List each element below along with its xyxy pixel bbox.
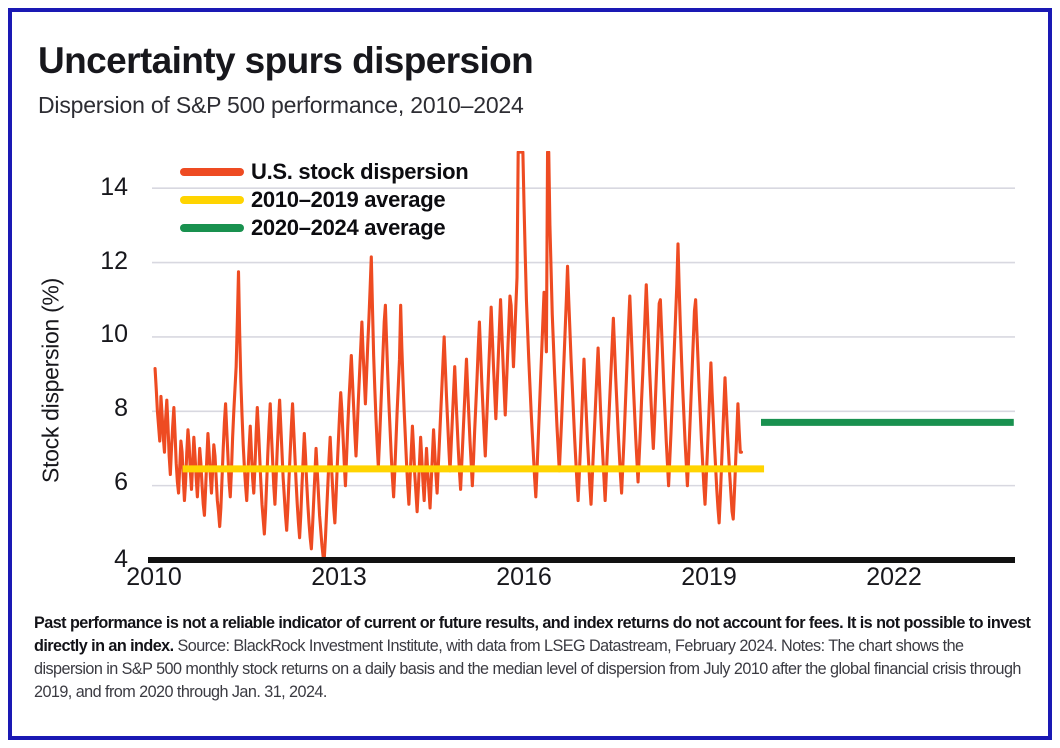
chart-legend: U.S. stock dispersion 2010–2019 average … bbox=[180, 158, 468, 242]
footnote-source: Source: BlackRock Investment Institute, … bbox=[34, 637, 1021, 701]
legend-label-avg-2020-2024: 2020–2024 average bbox=[251, 215, 445, 241]
legend-label-avg-2010-2019: 2010–2019 average bbox=[251, 187, 445, 213]
chart-frame: Uncertainty spurs dispersion Dispersion … bbox=[8, 8, 1052, 740]
legend-item-dispersion: U.S. stock dispersion bbox=[180, 158, 468, 186]
legend-item-avg-2020-2024: 2020–2024 average bbox=[180, 214, 468, 242]
chart-figure: Uncertainty spurs dispersion Dispersion … bbox=[0, 0, 1060, 748]
chart-footnote: Past performance is not a reliable indic… bbox=[34, 612, 1034, 704]
chart-canvas bbox=[12, 12, 1056, 612]
legend-swatch-avg-2020-2024 bbox=[180, 224, 244, 232]
legend-swatch-dispersion bbox=[180, 168, 244, 176]
legend-swatch-avg-2010-2019 bbox=[180, 196, 244, 204]
legend-item-avg-2010-2019: 2010–2019 average bbox=[180, 186, 468, 214]
legend-label-dispersion: U.S. stock dispersion bbox=[251, 159, 468, 185]
